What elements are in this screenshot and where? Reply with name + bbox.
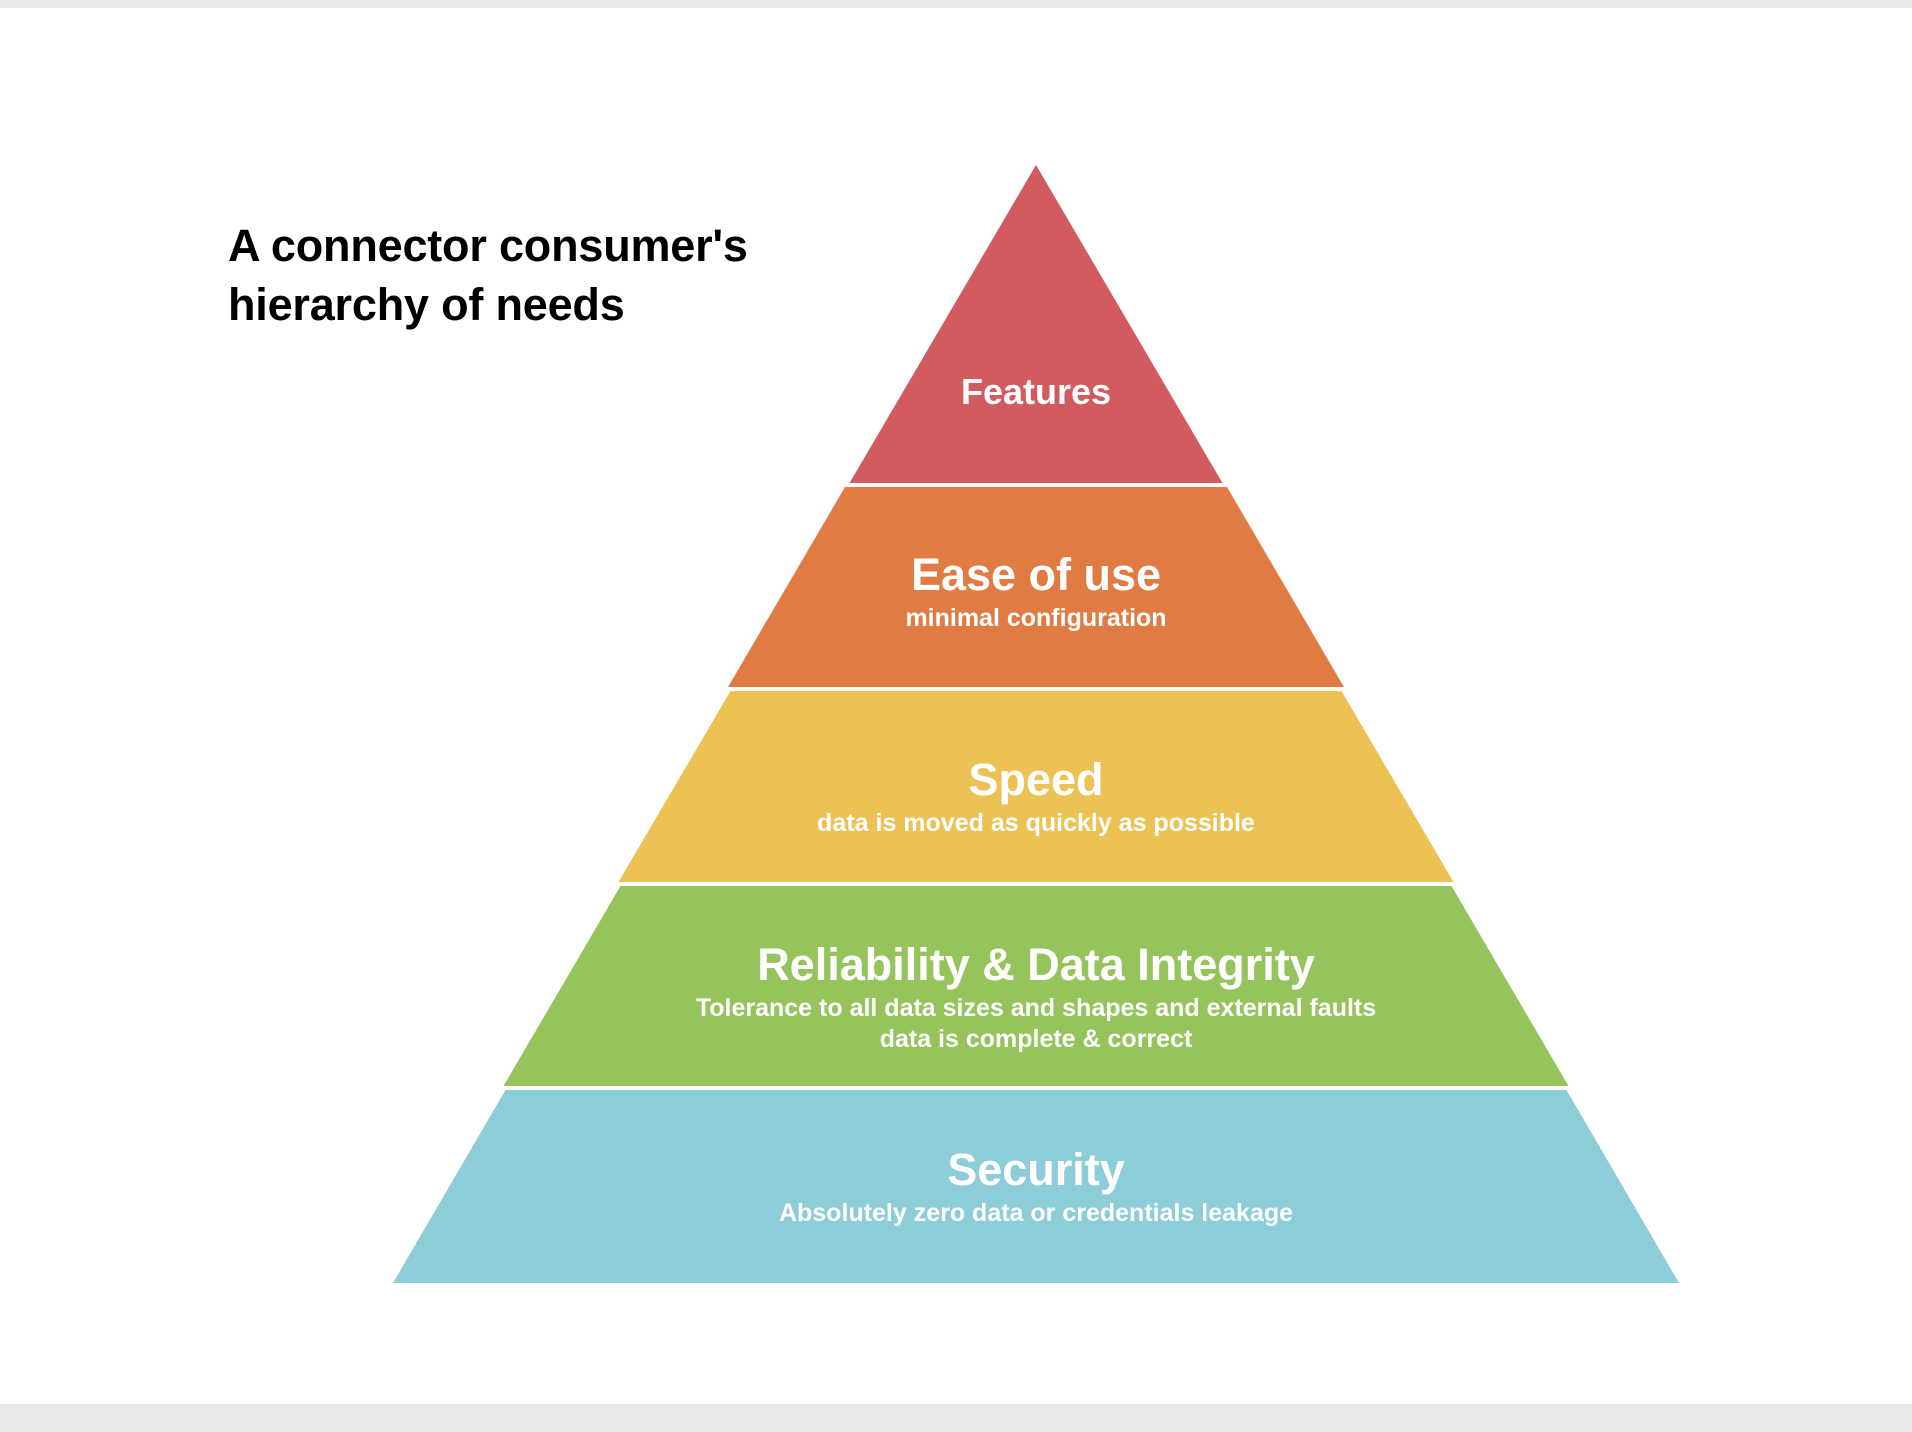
- tier-label-ease-of-use-title: Ease of use: [636, 550, 1436, 600]
- tier-label-security-title: Security: [536, 1145, 1536, 1195]
- page-title-line-2: hierarchy of needs: [228, 275, 928, 334]
- tier-label-security: Security Absolutely zero data or credent…: [536, 1145, 1536, 1227]
- tier-label-reliability-subtitle-line-1: Tolerance to all data sizes and shapes a…: [536, 993, 1536, 1024]
- tier-label-features-title: Features: [636, 372, 1436, 412]
- tier-label-security-subtitle: Absolutely zero data or credentials leak…: [536, 1199, 1536, 1227]
- tier-label-speed: Speed data is moved as quickly as possib…: [636, 755, 1436, 837]
- tier-label-reliability-title: Reliability & Data Integrity: [536, 940, 1536, 990]
- tier-label-reliability-subtitle-line-2: data is complete & correct: [536, 1024, 1536, 1055]
- tier-label-ease-of-use: Ease of use minimal configuration: [636, 550, 1436, 632]
- tier-label-ease-of-use-subtitle: minimal configuration: [636, 604, 1436, 632]
- page-title-line-1: A connector consumer's: [228, 216, 928, 275]
- tier-label-speed-title: Speed: [636, 755, 1436, 805]
- tier-label-reliability-subtitle: Tolerance to all data sizes and shapes a…: [536, 993, 1536, 1054]
- page-title: A connector consumer's hierarchy of need…: [228, 216, 928, 335]
- tier-label-reliability: Reliability & Data Integrity Tolerance t…: [536, 940, 1536, 1054]
- tier-label-features: Features: [636, 372, 1436, 412]
- tier-label-speed-subtitle: data is moved as quickly as possible: [636, 809, 1436, 837]
- slide-canvas: A connector consumer's hierarchy of need…: [0, 0, 1912, 1432]
